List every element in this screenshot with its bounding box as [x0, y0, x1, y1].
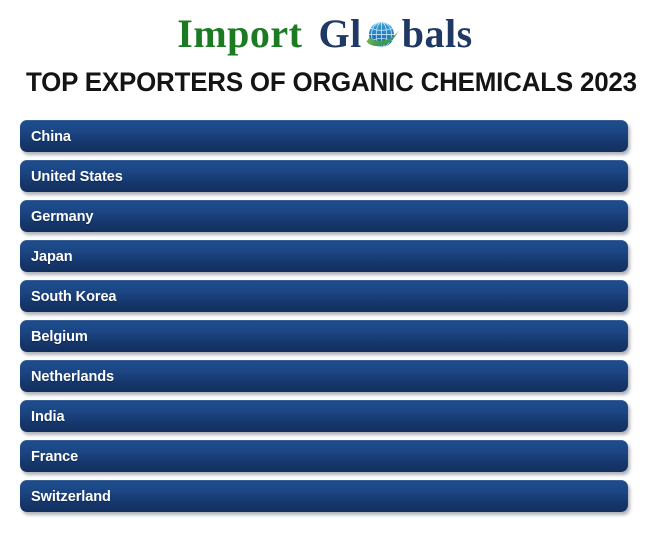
exporter-bar[interactable]: Japan [20, 240, 628, 272]
exporter-label: Japan [31, 248, 73, 265]
list-item: Belgium [20, 320, 630, 352]
exporter-label: Germany [31, 208, 93, 225]
exporter-label: South Korea [31, 288, 116, 305]
exporter-label: France [31, 448, 78, 465]
exporter-label: India [31, 408, 64, 425]
list-item: Japan [20, 240, 630, 272]
list-item: China [20, 120, 630, 152]
exporter-label: Belgium [31, 328, 88, 345]
brand-logo: Import Gl [0, 8, 650, 60]
logo-word-import: Import [177, 14, 302, 54]
exporter-bar-list: China United States Germany Japan South … [20, 120, 630, 520]
exporter-bar[interactable]: Belgium [20, 320, 628, 352]
list-item: Germany [20, 200, 630, 232]
list-item: France [20, 440, 630, 472]
exporter-label: Netherlands [31, 368, 114, 385]
exporter-bar[interactable]: Netherlands [20, 360, 628, 392]
exporter-bar[interactable]: South Korea [20, 280, 628, 312]
logo-text: Import Gl [177, 14, 472, 54]
exporter-bar[interactable]: Germany [20, 200, 628, 232]
exporter-bar[interactable]: France [20, 440, 628, 472]
exporter-bar[interactable]: Switzerland [20, 480, 628, 512]
list-item: Switzerland [20, 480, 630, 512]
exporter-bar[interactable]: India [20, 400, 628, 432]
exporter-bar[interactable]: China [20, 120, 628, 152]
list-item: Netherlands [20, 360, 630, 392]
exporter-label: Switzerland [31, 488, 111, 505]
list-item: United States [20, 160, 630, 192]
exporter-label: United States [31, 168, 123, 185]
exporter-bar[interactable]: United States [20, 160, 628, 192]
globe-icon [363, 15, 401, 53]
logo-word-gl: Gl [319, 14, 362, 54]
list-item: South Korea [20, 280, 630, 312]
exporter-label: China [31, 128, 71, 145]
page-title: TOP EXPORTERS OF ORGANIC CHEMICALS 2023 [26, 62, 602, 102]
list-item: India [20, 400, 630, 432]
logo-word-bals: bals [402, 14, 473, 54]
